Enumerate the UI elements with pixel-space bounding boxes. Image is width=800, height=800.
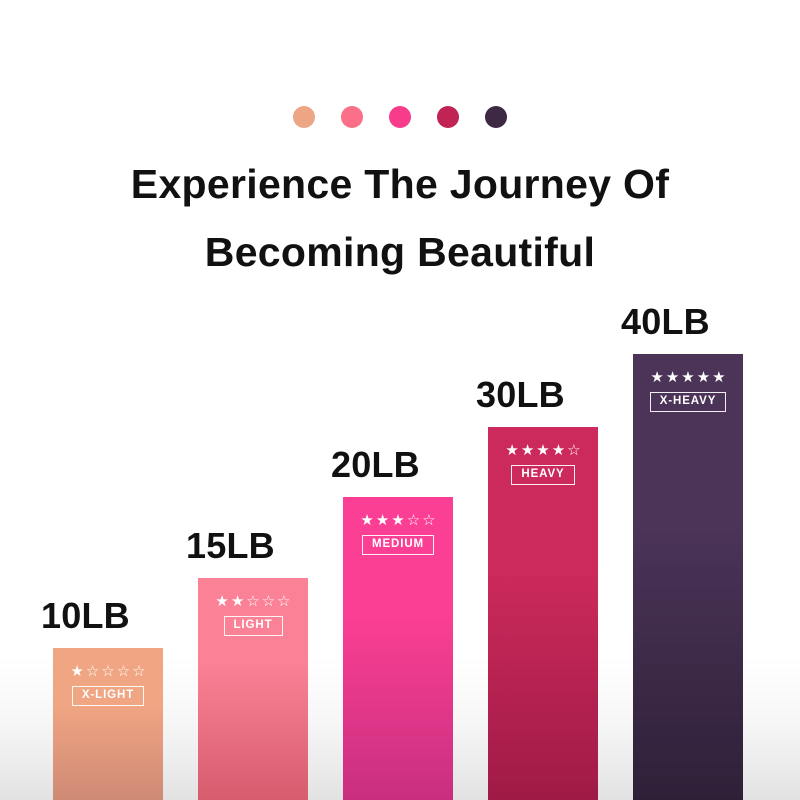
bar-weight-label: 30LB bbox=[476, 377, 565, 413]
star-empty-icon: ☆ bbox=[246, 594, 259, 609]
rating-stars: ★★★★☆ bbox=[505, 443, 580, 458]
rating-stars: ★★★☆☆ bbox=[360, 513, 435, 528]
star-empty-icon: ☆ bbox=[117, 664, 130, 679]
star-filled-icon: ★ bbox=[360, 513, 373, 528]
bar-group: 30LB★★★★☆HEAVY bbox=[488, 367, 598, 800]
level-badge: X-LIGHT bbox=[72, 686, 144, 706]
star-empty-icon: ☆ bbox=[422, 513, 435, 528]
star-filled-icon: ★ bbox=[697, 370, 710, 385]
bar-x-heavy[interactable]: ★★★★★X-HEAVY bbox=[633, 354, 743, 800]
rating-stars: ★☆☆☆☆ bbox=[70, 664, 145, 679]
level-badge: HEAVY bbox=[511, 465, 574, 485]
star-empty-icon: ☆ bbox=[407, 513, 420, 528]
bar-x-light[interactable]: ★☆☆☆☆X-LIGHT bbox=[53, 648, 163, 800]
bar-content: ★★★☆☆MEDIUM bbox=[343, 513, 453, 555]
star-empty-icon: ☆ bbox=[567, 443, 580, 458]
bar-content: ★★★★☆HEAVY bbox=[488, 443, 598, 485]
bar-weight-label: 40LB bbox=[621, 304, 710, 340]
star-filled-icon: ★ bbox=[70, 664, 83, 679]
rating-stars: ★★★★★ bbox=[650, 370, 725, 385]
star-filled-icon: ★ bbox=[376, 513, 389, 528]
star-filled-icon: ★ bbox=[650, 370, 663, 385]
level-badge: MEDIUM bbox=[362, 535, 434, 555]
bar-chart: 10LB★☆☆☆☆X-LIGHT15LB★★☆☆☆LIGHT20LB★★★☆☆M… bbox=[0, 0, 800, 800]
star-empty-icon: ☆ bbox=[262, 594, 275, 609]
star-empty-icon: ☆ bbox=[132, 664, 145, 679]
star-filled-icon: ★ bbox=[666, 370, 679, 385]
star-filled-icon: ★ bbox=[536, 443, 549, 458]
level-badge: LIGHT bbox=[224, 616, 283, 636]
bar-content: ★★★★★X-HEAVY bbox=[633, 370, 743, 412]
level-badge: X-HEAVY bbox=[650, 392, 727, 412]
bar-medium[interactable]: ★★★☆☆MEDIUM bbox=[343, 497, 453, 800]
star-filled-icon: ★ bbox=[521, 443, 534, 458]
resistance-band-chart-page: Experience The Journey Of Becoming Beaut… bbox=[0, 0, 800, 800]
star-filled-icon: ★ bbox=[681, 370, 694, 385]
bar-group: 40LB★★★★★X-HEAVY bbox=[633, 294, 743, 800]
star-filled-icon: ★ bbox=[215, 594, 228, 609]
star-filled-icon: ★ bbox=[505, 443, 518, 458]
bar-content: ★☆☆☆☆X-LIGHT bbox=[53, 664, 163, 706]
star-filled-icon: ★ bbox=[391, 513, 404, 528]
bar-heavy[interactable]: ★★★★☆HEAVY bbox=[488, 427, 598, 800]
bar-group: 15LB★★☆☆☆LIGHT bbox=[198, 518, 308, 800]
bar-weight-label: 20LB bbox=[331, 447, 420, 483]
bar-group: 10LB★☆☆☆☆X-LIGHT bbox=[53, 588, 163, 800]
bar-content: ★★☆☆☆LIGHT bbox=[198, 594, 308, 636]
bar-light[interactable]: ★★☆☆☆LIGHT bbox=[198, 578, 308, 800]
star-empty-icon: ☆ bbox=[101, 664, 114, 679]
bar-weight-label: 10LB bbox=[41, 598, 130, 634]
star-empty-icon: ☆ bbox=[86, 664, 99, 679]
star-filled-icon: ★ bbox=[552, 443, 565, 458]
rating-stars: ★★☆☆☆ bbox=[215, 594, 290, 609]
star-empty-icon: ☆ bbox=[277, 594, 290, 609]
star-filled-icon: ★ bbox=[712, 370, 725, 385]
star-filled-icon: ★ bbox=[231, 594, 244, 609]
bar-weight-label: 15LB bbox=[186, 528, 275, 564]
bar-group: 20LB★★★☆☆MEDIUM bbox=[343, 437, 453, 800]
